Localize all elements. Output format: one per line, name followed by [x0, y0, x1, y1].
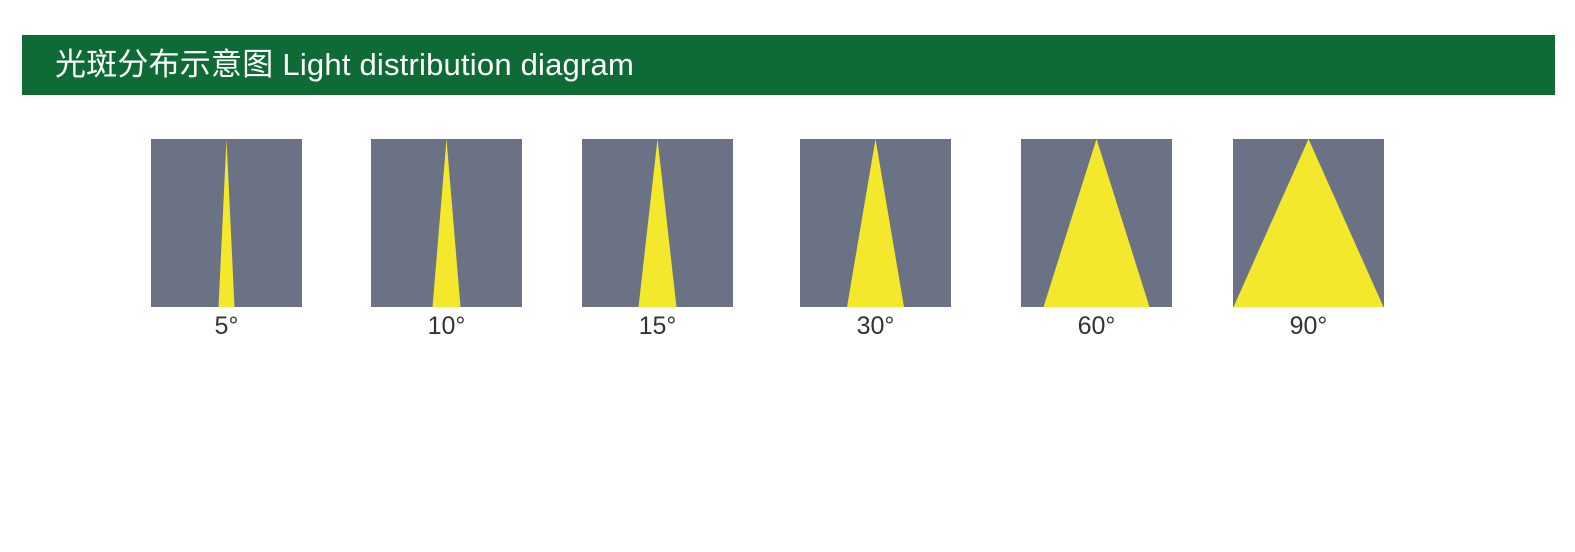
beam-panel-box	[1021, 139, 1172, 307]
beam-panel: 5°	[151, 139, 302, 307]
header-banner: 光斑分布示意图Light distribution diagram	[22, 35, 1555, 95]
beam-panel: 90°	[1233, 139, 1384, 307]
beam-panel-box	[1233, 139, 1384, 307]
beam-angle-label: 15°	[582, 311, 733, 341]
beam-angle-label: 30°	[800, 311, 951, 341]
beam-panel: 60°	[1021, 139, 1172, 307]
beam-panel-strip: 5°10°15°30°60°90°	[0, 139, 1575, 354]
beam-angle-label: 5°	[151, 311, 302, 341]
page-title-chinese: 光斑分布示意图	[55, 47, 273, 83]
light-distribution-diagram-page: 光斑分布示意图Light distribution diagram 5°10°1…	[0, 0, 1575, 552]
beam-cone-icon	[800, 139, 951, 307]
beam-panel: 30°	[800, 139, 951, 307]
beam-panel-box	[151, 139, 302, 307]
beam-panel: 10°	[371, 139, 522, 307]
beam-angle-label: 90°	[1233, 311, 1384, 341]
beam-cone-icon	[151, 139, 302, 307]
beam-cone-icon	[1233, 139, 1384, 307]
beam-cone-icon	[1021, 139, 1172, 307]
beam-angle-label: 10°	[371, 311, 522, 341]
beam-panel-box	[582, 139, 733, 307]
beam-cone-icon	[582, 139, 733, 307]
page-title-english: Light distribution diagram	[273, 47, 634, 82]
beam-panel: 15°	[582, 139, 733, 307]
beam-panel-box	[800, 139, 951, 307]
beam-cone-icon	[371, 139, 522, 307]
beam-panel-box	[371, 139, 522, 307]
beam-angle-label: 60°	[1021, 311, 1172, 341]
page-title: 光斑分布示意图Light distribution diagram	[55, 49, 634, 81]
